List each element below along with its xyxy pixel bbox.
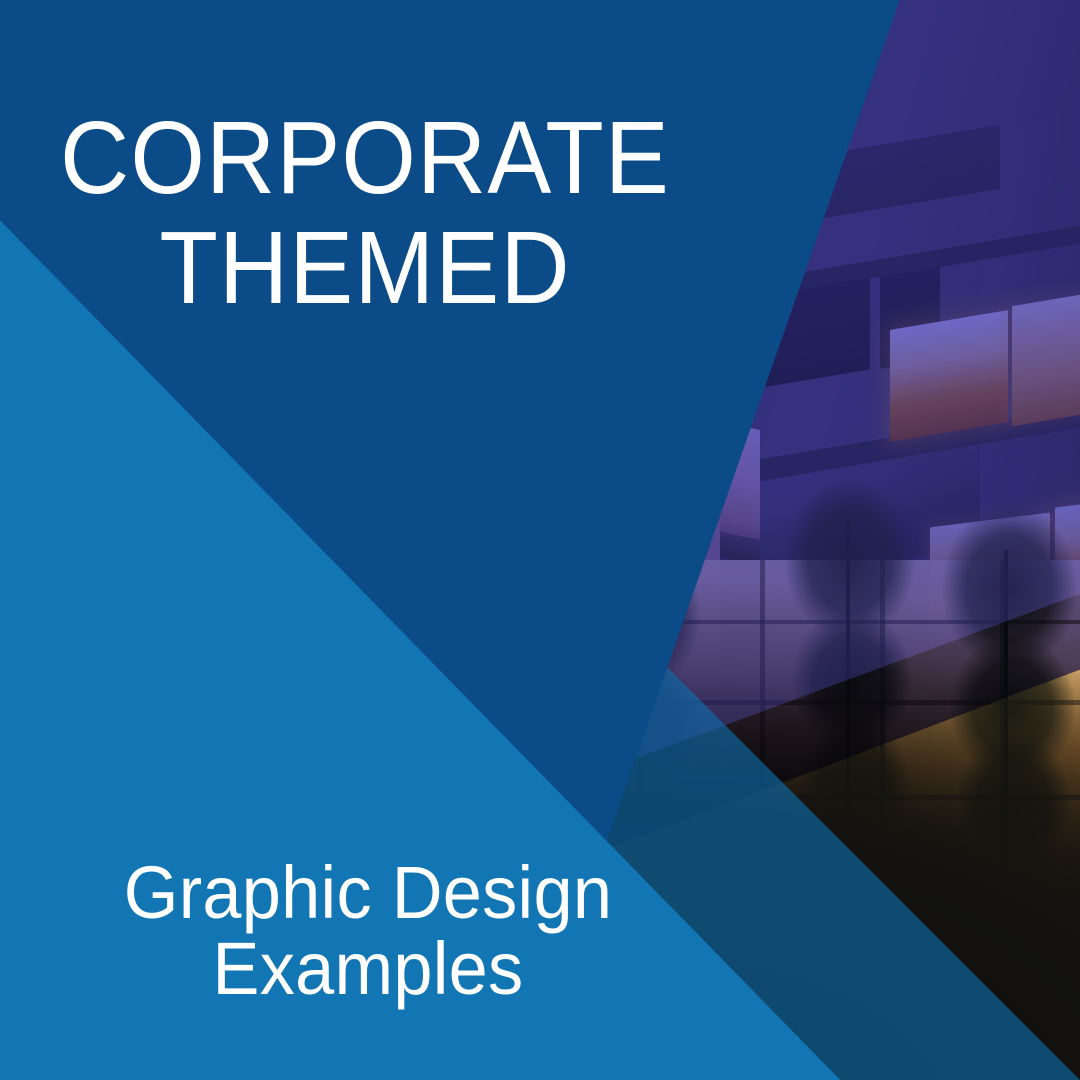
- title-line-1: CORPORATE: [60, 100, 670, 215]
- page-subtitle: Graphic Design Examples: [0, 855, 881, 1007]
- title-line-2: THEMED: [0, 213, 867, 323]
- page-title: CORPORATE THEMED: [0, 103, 867, 323]
- corporate-themed-poster: CORPORATE THEMED Graphic Design Examples: [0, 0, 1080, 1080]
- subtitle-line-2: Examples: [0, 931, 881, 1007]
- subtitle-line-1: Graphic Design: [124, 851, 612, 934]
